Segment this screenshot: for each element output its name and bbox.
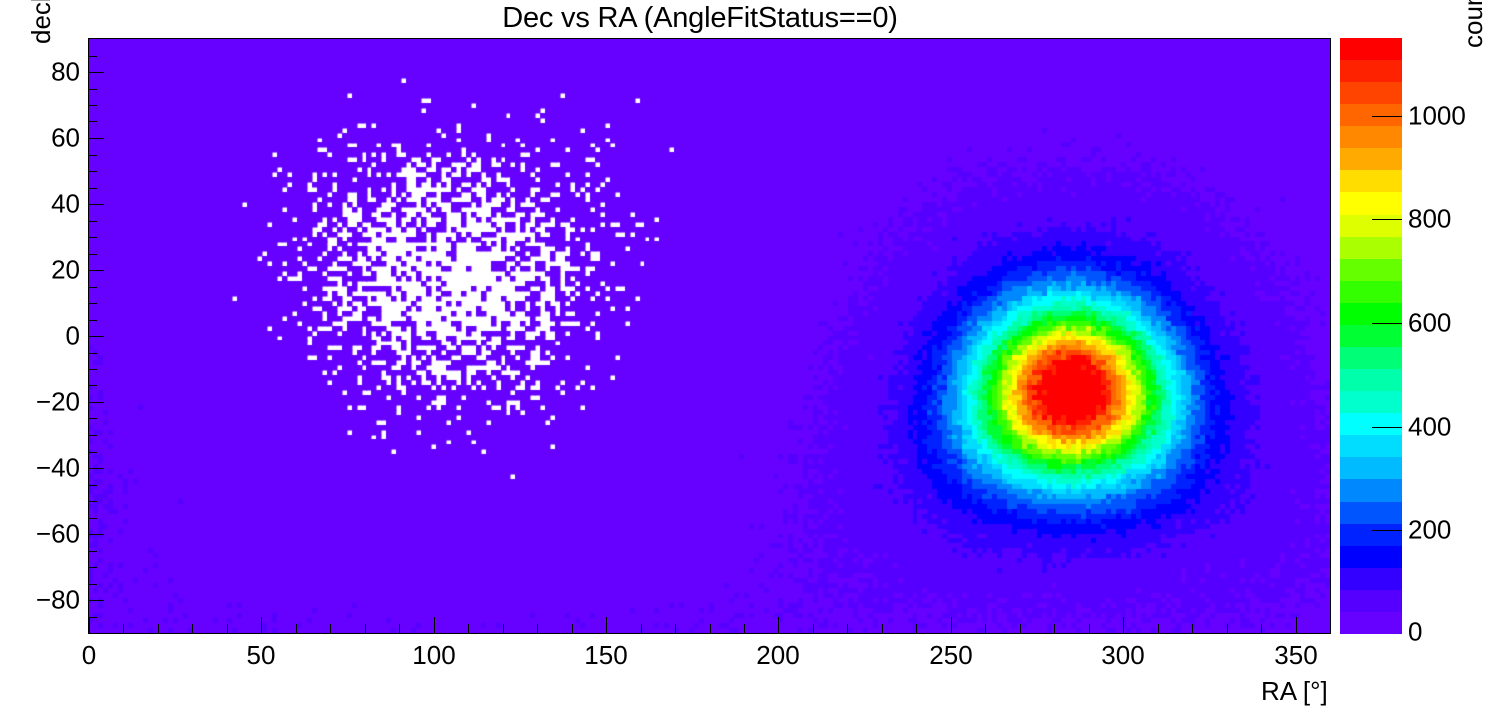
x-tick-label: 350 (1274, 640, 1317, 671)
x-tick-minor (675, 624, 676, 633)
x-tick-minor (882, 624, 883, 633)
colorbar-band (1340, 590, 1402, 612)
colorbar-tick-label: 800 (1408, 204, 1451, 235)
y-tick-minor (88, 254, 97, 255)
colorbar-band (1340, 303, 1402, 325)
y-tick-minor (88, 435, 97, 436)
y-tick-label: 60 (51, 123, 80, 154)
colorbar-band (1340, 457, 1402, 479)
x-tick-minor (330, 624, 331, 633)
x-tick-major (434, 617, 435, 633)
x-tick-minor (1330, 624, 1331, 633)
colorbar-band (1340, 612, 1402, 634)
colorbar-band (1340, 413, 1402, 435)
x-tick-minor (710, 624, 711, 633)
x-tick-minor (1192, 624, 1193, 633)
y-tick-label: −20 (36, 387, 80, 418)
x-tick-minor (468, 624, 469, 633)
y-tick-major (88, 72, 104, 73)
x-tick-minor (847, 624, 848, 633)
y-tick-minor (88, 485, 97, 486)
colorbar-tick-label: 200 (1408, 515, 1451, 546)
y-tick-minor (88, 89, 97, 90)
y-tick-minor (88, 385, 97, 386)
y-tick-minor (88, 452, 97, 453)
x-tick-minor (537, 624, 538, 633)
colorbar-band (1340, 479, 1402, 501)
colorbar-band (1340, 170, 1402, 192)
x-tick-label: 100 (412, 640, 455, 671)
x-tick-minor (1020, 624, 1021, 633)
x-tick-label: 50 (247, 640, 276, 671)
y-tick-minor (88, 155, 97, 156)
y-axis-title: declination [°] (26, 0, 57, 44)
x-tick-minor (1054, 624, 1055, 633)
colorbar-band (1340, 502, 1402, 524)
y-tick-minor (88, 320, 97, 321)
y-tick-major (88, 138, 104, 139)
colorbar-band (1340, 391, 1402, 413)
x-tick-minor (1261, 624, 1262, 633)
y-tick-minor (88, 551, 97, 552)
colorbar-band (1340, 281, 1402, 303)
y-tick-minor (88, 584, 97, 585)
x-tick-minor (399, 624, 400, 633)
y-tick-label: 0 (66, 321, 80, 352)
x-tick-label: 150 (584, 640, 627, 671)
x-tick-major (89, 617, 90, 633)
colorbar-band (1340, 546, 1402, 568)
plot-frame (88, 38, 1331, 634)
y-tick-label: 20 (51, 255, 80, 286)
colorbar-band (1340, 568, 1402, 590)
colorbar-band (1340, 347, 1402, 369)
x-tick-major (261, 617, 262, 633)
y-tick-minor (88, 418, 97, 419)
colorbar-tick-label: 1000 (1408, 101, 1466, 132)
colorbar-band (1340, 192, 1402, 214)
colorbar-band (1340, 126, 1402, 148)
y-tick-label: −40 (36, 453, 80, 484)
x-tick-major (1123, 617, 1124, 633)
colorbar-tick-label: 600 (1408, 308, 1451, 339)
colorbar (1340, 38, 1402, 634)
colorbar-tick (1372, 530, 1402, 531)
root-canvas-pad: Dec vs RA (AngleFitStatus==0) 0501001502… (0, 0, 1496, 722)
x-tick-minor (572, 624, 573, 633)
y-tick-minor (88, 188, 97, 189)
x-tick-major (1296, 617, 1297, 633)
y-tick-minor (88, 121, 97, 122)
page-title: Dec vs RA (AngleFitStatus==0) (0, 2, 1400, 35)
x-tick-minor (227, 624, 228, 633)
x-tick-minor (365, 624, 366, 633)
colorbar-tick-label: 0 (1408, 617, 1422, 648)
y-tick-label: −60 (36, 519, 80, 550)
y-tick-minor (88, 353, 97, 354)
x-tick-label: 300 (1101, 640, 1144, 671)
colorbar-band (1340, 524, 1402, 546)
x-tick-minor (158, 624, 159, 633)
y-tick-major (88, 468, 104, 469)
y-tick-minor (88, 617, 97, 618)
x-tick-major (606, 617, 607, 633)
x-tick-minor (123, 624, 124, 633)
colorbar-tick (1372, 116, 1402, 117)
y-tick-minor (88, 518, 97, 519)
colorbar-band (1340, 435, 1402, 457)
colorbar-title: count (1458, 0, 1489, 48)
y-tick-major (88, 204, 104, 205)
x-tick-minor (503, 624, 504, 633)
colorbar-band (1340, 148, 1402, 170)
y-tick-major (88, 270, 104, 271)
colorbar-band (1340, 369, 1402, 391)
y-tick-minor (88, 303, 97, 304)
x-tick-minor (296, 624, 297, 633)
y-tick-label: 80 (51, 57, 80, 88)
x-tick-minor (1158, 624, 1159, 633)
y-tick-minor (88, 237, 97, 238)
y-tick-minor (88, 287, 97, 288)
x-tick-label: 250 (929, 640, 972, 671)
colorbar-band (1340, 259, 1402, 281)
colorbar-band (1340, 82, 1402, 104)
x-tick-major (951, 617, 952, 633)
x-tick-label: 200 (756, 640, 799, 671)
y-tick-minor (88, 501, 97, 502)
x-tick-major (778, 617, 779, 633)
x-tick-minor (813, 624, 814, 633)
x-tick-label: 0 (82, 640, 96, 671)
x-tick-minor (916, 624, 917, 633)
colorbar-band (1340, 60, 1402, 82)
colorbar-tick (1372, 219, 1402, 220)
colorbar-band (1340, 325, 1402, 347)
y-tick-minor (88, 171, 97, 172)
colorbar-tick (1372, 427, 1402, 428)
colorbar-tick-label: 400 (1408, 412, 1451, 443)
y-tick-minor (88, 56, 97, 57)
x-tick-minor (192, 624, 193, 633)
y-tick-minor (88, 369, 97, 370)
colorbar-band (1340, 38, 1402, 60)
colorbar-tick (1372, 323, 1402, 324)
y-tick-minor (88, 567, 97, 568)
x-tick-minor (1089, 624, 1090, 633)
y-tick-minor (88, 221, 97, 222)
y-tick-label: 40 (51, 189, 80, 220)
y-tick-major (88, 534, 104, 535)
y-tick-major (88, 600, 104, 601)
y-tick-major (88, 336, 104, 337)
y-tick-major (88, 402, 104, 403)
y-tick-minor (88, 105, 97, 106)
x-tick-minor (1227, 624, 1228, 633)
x-tick-minor (985, 624, 986, 633)
colorbar-band (1340, 215, 1402, 237)
x-tick-minor (641, 624, 642, 633)
x-tick-minor (744, 624, 745, 633)
y-tick-label: −80 (36, 585, 80, 616)
x-axis-title: RA [°] (1261, 676, 1328, 707)
histogram-canvas (89, 39, 1330, 633)
colorbar-band (1340, 237, 1402, 259)
